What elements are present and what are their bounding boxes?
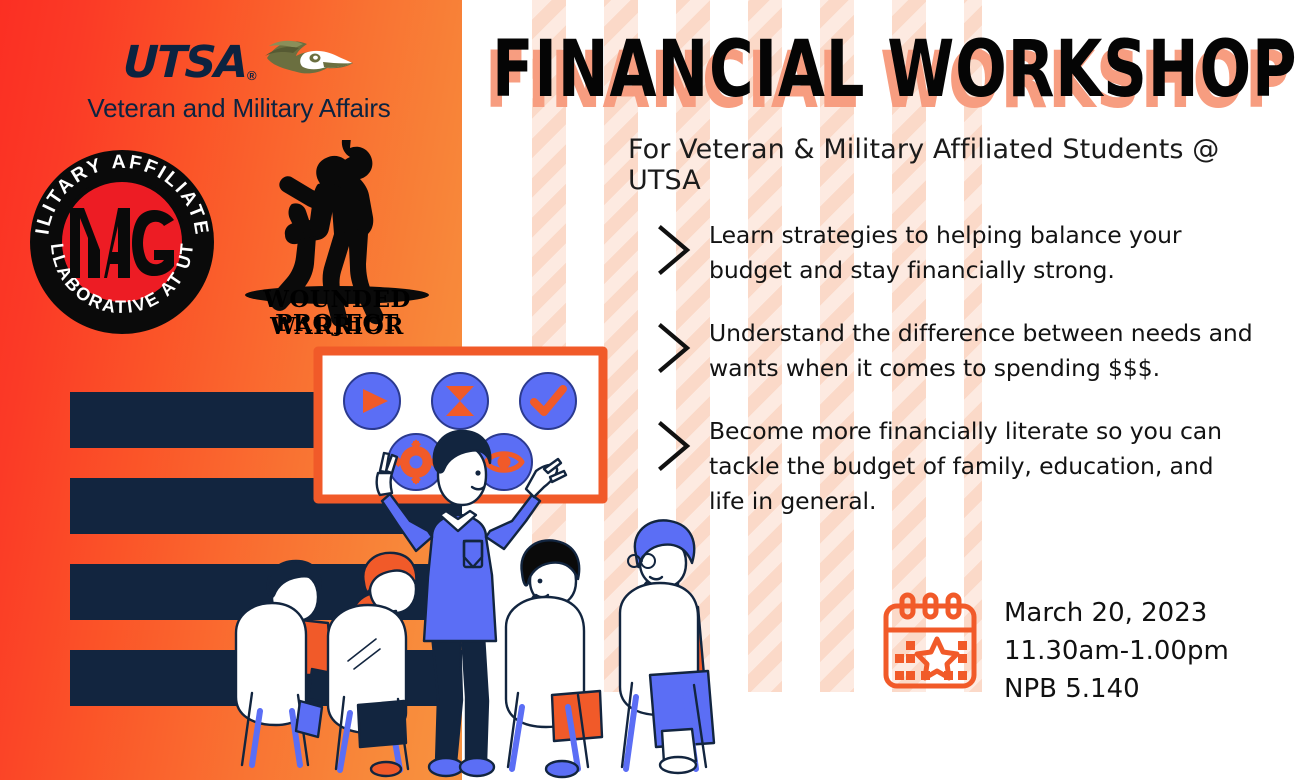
title-block: FINANCIAL WORKSHOP FINANCIAL WORKSHOP: [492, 26, 1282, 118]
list-item-label: Learn strategies to helping balance your…: [709, 218, 1255, 288]
calendar-star-icon: [882, 592, 978, 692]
page-subtitle: For Veteran & Military Affiliated Studen…: [628, 134, 1288, 196]
list-item-label: Understand the difference between needs …: [709, 316, 1255, 386]
utsa-logo-row: UTSA ®: [64, 36, 414, 89]
wwp-label-line2: PROJECT: [222, 310, 452, 337]
audience-member: [620, 520, 714, 773]
audience-member: [506, 540, 602, 777]
utsa-logo: UTSA ® Veteran and Military Affairs: [64, 36, 414, 124]
roadrunner-icon: [263, 36, 355, 89]
flyer-poster: FINANCIAL WORKSHOP FINANCIAL WORKSHOP Fo…: [0, 0, 1300, 780]
utsa-department-label: Veteran and Military Affairs: [64, 93, 414, 124]
event-location: NPB 5.140: [1004, 670, 1229, 708]
list-item: Become more financially literate so you …: [655, 414, 1255, 519]
list-item: Learn strategies to helping balance your…: [655, 218, 1255, 288]
audience-member: [328, 553, 416, 776]
event-date: March 20, 2023: [1004, 594, 1229, 632]
workshop-illustration: [200, 345, 740, 780]
event-text-lines: March 20, 2023 11.30am-1.00pm NPB 5.140: [1004, 592, 1229, 708]
page-title: FINANCIAL WORKSHOP: [492, 26, 1108, 114]
chevron-right-icon: [655, 218, 709, 288]
mac-logo: MILITARY AFFILIATED COLLABORATIVE AT UTS…: [26, 146, 218, 338]
event-time: 11.30am-1.00pm: [1004, 632, 1229, 670]
list-item: Understand the difference between needs …: [655, 316, 1255, 386]
list-item-label: Become more financially literate so you …: [709, 414, 1255, 519]
utsa-wordmark: UTSA: [123, 37, 248, 88]
event-details: March 20, 2023 11.30am-1.00pm NPB 5.140: [882, 592, 1229, 708]
bullet-list: Learn strategies to helping balance your…: [655, 218, 1255, 547]
audience-member: [236, 561, 342, 765]
registered-mark: ®: [247, 68, 257, 89]
